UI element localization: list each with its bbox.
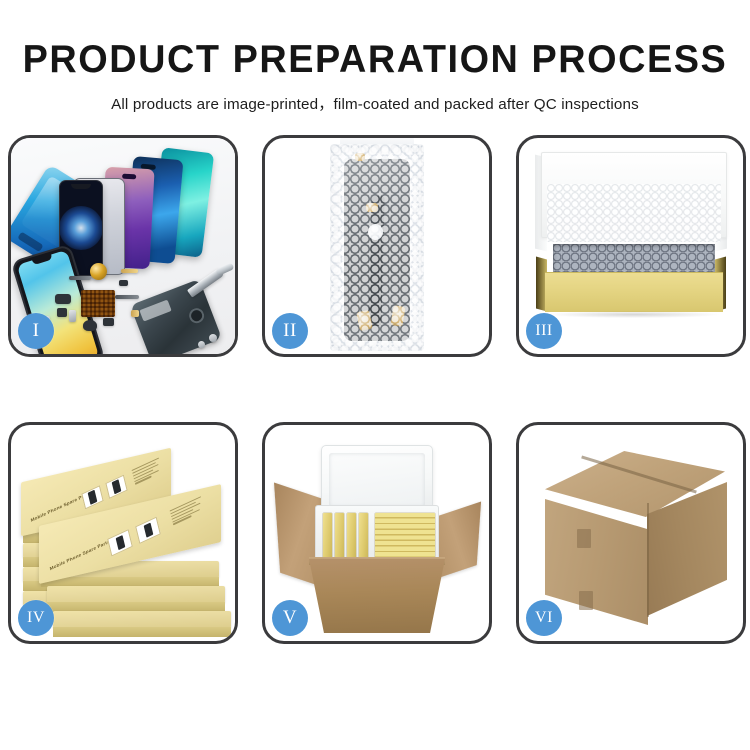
box-spec-text-lines [170,496,205,525]
adhesive-tape-spot [366,203,378,212]
speaker-coil-icon [90,263,107,280]
chip-contact-grid-icon [81,290,115,317]
gold-contact-part-icon [131,310,139,317]
sim-tray-part-icon [69,310,76,322]
step-badge-1: I [18,313,54,349]
small-chip-part-icon [119,280,128,286]
step-badge-5: V [272,600,308,636]
box-drop-shadow [549,311,719,318]
gray-bubble-wrap-fill [553,244,715,274]
page-title: PRODUCT PREPARATION PROCESS [11,40,739,81]
box-artwork-swatch [105,475,127,499]
bubble-wrap-bag [330,144,424,351]
step-badge-2: II [272,313,308,349]
packed-yellow-box [323,513,332,561]
carton-tape-patch [577,529,591,548]
carton-body [309,559,445,633]
step-panel-4-box-stack: Mobile Phone Spare Parts Mobile Phone Sp… [8,422,238,644]
packed-yellow-box-group [375,513,435,561]
page-header: PRODUCT PREPARATION PROCESS All products… [0,0,750,114]
packed-yellow-box [359,513,368,561]
box-artwork-swatch [81,485,103,509]
screw-part-icon [198,341,205,348]
step-panel-1-components: I [8,135,238,357]
white-foam-sheet [547,184,721,242]
step-badge-4: IV [18,600,54,636]
step-panel-5-carton-packing: V [262,422,492,644]
step-panel-2-bubble-wrap: II [262,135,492,357]
step-panel-3-inner-box: III [516,135,746,357]
adhesive-tape-spot [355,153,365,161]
box-artwork-swatch [107,529,133,556]
step-panel-6-sealed-carton: VI [516,422,746,644]
step-badge-6: VI [526,600,562,636]
button-flex-part-icon [103,318,114,326]
flex-cable-part-icon [69,276,91,280]
white-connector-spot [368,224,383,240]
stacked-box [47,586,225,603]
packed-yellow-box [335,513,344,561]
screw-part-icon [209,334,217,342]
carton-tape-patch [579,591,593,610]
gold-connector-part-icon [121,269,138,273]
yellow-box-front-face [545,272,723,312]
box-spec-text-lines [132,458,163,485]
camera-module-part-icon [55,294,71,304]
earpiece-part-icon [83,320,97,331]
process-step-grid: I II [0,135,750,695]
carton-left-face [545,499,648,625]
step-badge-3: III [526,313,562,349]
carton-vertical-edge [647,503,649,617]
box-artwork-swatch [135,517,161,544]
page-subtitle: All products are image-printed，film-coat… [0,92,750,114]
box-product-label: Mobile Phone Spare Parts [49,539,110,571]
vibrator-part-icon [57,308,67,317]
packed-yellow-box [347,513,356,561]
stacked-box [53,611,231,628]
ribbon-cable-part-icon [115,295,139,299]
